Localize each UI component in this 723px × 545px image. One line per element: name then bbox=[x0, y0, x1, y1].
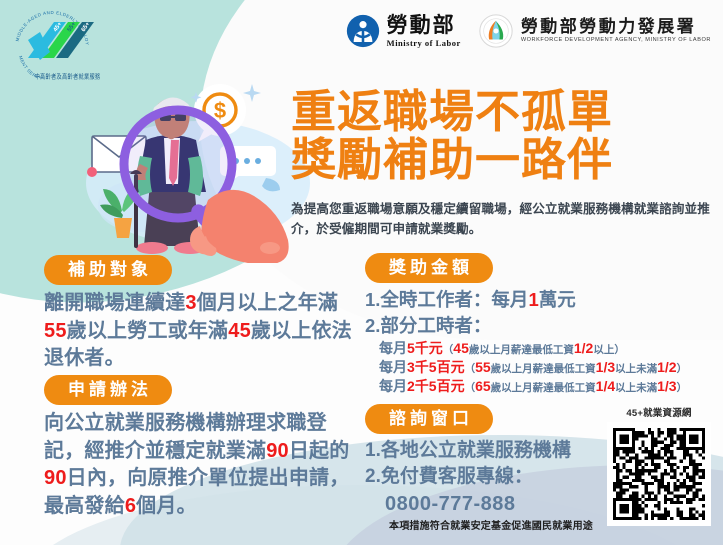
employment-service-logo: MIDDLE-AGED AND ELDERLY EMPLOY MENT SERV… bbox=[10, 8, 120, 88]
ministry-name-en: Ministry of Labor bbox=[387, 39, 461, 48]
agency-name-cn: 勞動部勞動力發展署 bbox=[521, 18, 711, 35]
badge-apply: 申請辦法 bbox=[44, 375, 172, 405]
svg-text:$: $ bbox=[214, 98, 226, 123]
agency-name-en: WORKFORCE DEVELOPMENT AGENCY, MINISTRY O… bbox=[521, 38, 711, 44]
ministry-emblem-icon bbox=[346, 14, 380, 48]
headline-line-1: 重返職場不孤單 bbox=[291, 88, 711, 136]
section-apply: 申請辦法 向公立就業服務機構辦理求職登記，經推介並穩定就業滿90日起的90日內，… bbox=[44, 375, 359, 521]
qr-code-icon bbox=[613, 428, 705, 520]
subtitle: 為提高您重返職場意願及穩定續留職場，經公立就業服務機構就業諮詢並推介，於受僱期間… bbox=[291, 200, 716, 239]
section-amount: 獎助金額 1.全時工作者：每月1萬元 2.部分工時者： 每月5千元（45歲以上月… bbox=[365, 253, 715, 396]
amount-sub-item: 每月2千5百元（65歲以上月薪達最低工資1/4以上未滿1/3） bbox=[379, 377, 715, 396]
qr-code[interactable] bbox=[607, 422, 711, 526]
footnote: 本項措施符合就業安定基金促進國民就業用途 bbox=[389, 517, 593, 532]
headline-line-2: 獎勵補助一路伴 bbox=[291, 136, 711, 184]
agency-emblem-icon bbox=[479, 14, 513, 48]
qr-label: 45+就業資源網 bbox=[607, 405, 711, 419]
amount-item-1: 1.全時工作者：每月1萬元 bbox=[365, 287, 715, 313]
ministry-of-labor-logo: 勞動部 Ministry of Labor bbox=[346, 14, 461, 48]
government-header: 勞動部 Ministry of Labor 勞動部勞動力發展署 WORKFORC… bbox=[346, 14, 711, 48]
amount-sub-items: 每月5千元（45歲以上月薪達最低工資1/2以上）每月3千5百元（55歲以上月薪達… bbox=[379, 339, 715, 396]
badge-amount: 獎助金額 bbox=[365, 253, 493, 283]
amount-sub-item: 每月5千元（45歲以上月薪達最低工資1/2以上） bbox=[379, 339, 715, 358]
amount-item-2-label: 2.部分工時者： bbox=[365, 313, 715, 339]
workforce-agency-logo: 勞動部勞動力發展署 WORKFORCE DEVELOPMENT AGENCY, … bbox=[479, 14, 711, 48]
hero-illustration: $ bbox=[80, 78, 310, 263]
amount-sub-item: 每月3千5百元（55歲以上月薪達最低工資1/3以上未滿1/2） bbox=[379, 358, 715, 377]
poster-root: MIDDLE-AGED AND ELDERLY EMPLOY MENT SERV… bbox=[0, 0, 723, 545]
qr-section: 45+就業資源網 bbox=[607, 405, 711, 526]
section-target: 補助對象 離開職場連續達3個月以上之年滿55歲以上勞工或年滿45歲以上依法退休者… bbox=[44, 255, 354, 373]
headline: 重返職場不孤單 獎勵補助一路伴 bbox=[291, 88, 711, 184]
badge-contact: 諮詢窗口 bbox=[365, 404, 493, 434]
target-text: 離開職場連續達3個月以上之年滿55歲以上勞工或年滿45歲以上依法退休者。 bbox=[44, 290, 354, 373]
badge-target: 補助對象 bbox=[44, 255, 172, 285]
apply-text: 向公立就業服務機構辦理求職登記，經推介並穩定就業滿90日起的90日內，向原推介單… bbox=[44, 410, 359, 520]
ministry-name-cn: 勞動部 bbox=[387, 15, 461, 36]
